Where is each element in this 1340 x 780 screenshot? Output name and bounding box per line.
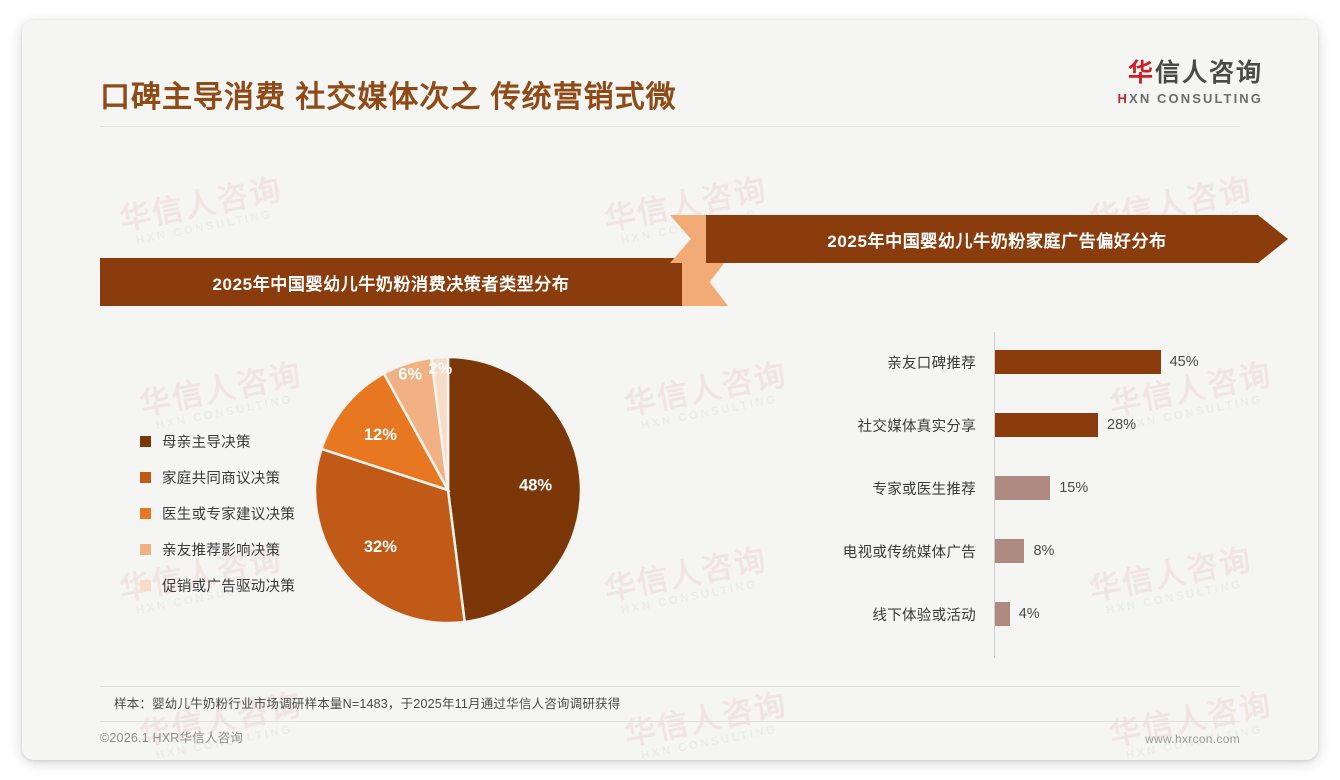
bar-track: 28% bbox=[995, 413, 1252, 437]
legend-label: 亲友推荐影响决策 bbox=[162, 539, 280, 560]
bar-value-label: 28% bbox=[1107, 417, 1136, 433]
bar-value-label: 45% bbox=[1170, 354, 1199, 370]
banner-left-title: 2025年中国婴幼儿牛奶粉消费决策者类型分布 bbox=[212, 270, 569, 295]
watermark-english: HXN CONSULTING bbox=[640, 722, 792, 760]
banner-left: 2025年中国婴幼儿牛奶粉消费决策者类型分布 bbox=[100, 258, 682, 306]
logo-chinese: 华信人咨询 bbox=[1118, 60, 1263, 88]
website-url: www.hxrcon.com bbox=[1145, 732, 1240, 746]
watermark-english: HXN CONSULTING bbox=[135, 207, 287, 247]
bar-value-label: 8% bbox=[1033, 543, 1054, 559]
pie-legend: 母亲主导决策家庭共同商议决策医生或专家建议决策亲友推荐影响决策促销或广告驱动决策 bbox=[140, 426, 295, 606]
bar-chart-panel: 亲友口碑推荐45%社交媒体真实分享28%专家或医生推荐15%电视或传统媒体广告8… bbox=[782, 330, 1252, 660]
bar-row[interactable]: 专家或医生推荐15% bbox=[782, 471, 1252, 505]
pie-chart-panel: 母亲主导决策家庭共同商议决策医生或专家建议决策亲友推荐影响决策促销或广告驱动决策… bbox=[100, 340, 660, 650]
logo-english-accent: H bbox=[1118, 91, 1130, 106]
logo-chinese-rest: 信人咨询 bbox=[1155, 59, 1263, 87]
bar-fill[interactable] bbox=[995, 539, 1024, 563]
bar-category-label: 专家或医生推荐 bbox=[782, 478, 988, 499]
copyright-text: ©2026.1 HXR华信人咨询 bbox=[100, 727, 243, 746]
bar-track: 45% bbox=[995, 350, 1252, 374]
sample-divider bbox=[100, 686, 1240, 687]
pie-legend-item[interactable]: 亲友推荐影响决策 bbox=[140, 534, 295, 564]
bar-category-label: 社交媒体真实分享 bbox=[782, 415, 988, 436]
bar-category-label: 线下体验或活动 bbox=[782, 604, 988, 625]
bar-track: 8% bbox=[995, 539, 1252, 563]
pie-chart: 48%32%12%6%2% bbox=[300, 340, 600, 640]
watermark-english: HXN CONSULTING bbox=[640, 392, 792, 432]
bar-fill[interactable] bbox=[995, 350, 1161, 374]
watermark-chinese: 华信人咨询 bbox=[117, 174, 285, 236]
bar-fill[interactable] bbox=[995, 413, 1098, 437]
legend-label: 家庭共同商议决策 bbox=[162, 467, 280, 488]
legend-color-swatch bbox=[140, 436, 151, 447]
bar-row[interactable]: 线下体验或活动4% bbox=[782, 597, 1252, 631]
watermark-tile: 华信人咨询HXN CONSULTING bbox=[622, 689, 793, 760]
banner-right-title: 2025年中国婴幼儿牛奶粉家庭广告偏好分布 bbox=[827, 227, 1166, 252]
sample-note: 样本：婴幼儿牛奶粉行业市场调研样本量N=1483，于2025年11月通过华信人咨… bbox=[114, 693, 620, 712]
bar-value-label: 4% bbox=[1019, 606, 1040, 622]
pie-slice-label: 48% bbox=[519, 477, 552, 495]
slide-header: 口碑主导消费 社交媒体次之 传统营销式微 华信人咨询 HXN CONSULTIN… bbox=[22, 20, 1318, 140]
bar-fill[interactable] bbox=[995, 476, 1050, 500]
bar-track: 4% bbox=[995, 602, 1252, 626]
legend-color-swatch bbox=[140, 508, 151, 519]
logo-chinese-accent: 华 bbox=[1128, 59, 1155, 87]
bar-category-label: 亲友口碑推荐 bbox=[782, 352, 988, 373]
watermark-tile: 华信人咨询HXN CONSULTING bbox=[1107, 689, 1278, 760]
legend-label: 医生或专家建议决策 bbox=[162, 503, 295, 524]
watermark-tile: 华信人咨询HXN CONSULTING bbox=[117, 174, 288, 250]
banner-right: 2025年中国婴幼儿牛奶粉家庭广告偏好分布 bbox=[706, 215, 1288, 263]
legend-color-swatch bbox=[140, 544, 151, 555]
bar-track: 15% bbox=[995, 476, 1252, 500]
legend-label: 母亲主导决策 bbox=[162, 431, 251, 452]
bar-row[interactable]: 社交媒体真实分享28% bbox=[782, 408, 1252, 442]
pie-slice-label: 2% bbox=[428, 360, 452, 378]
bar-fill[interactable] bbox=[995, 602, 1010, 626]
banner-right-chevron bbox=[670, 215, 706, 263]
watermark-chinese: 华信人咨询 bbox=[622, 689, 790, 751]
footer-divider bbox=[100, 721, 1240, 722]
slide-canvas: 华信人咨询HXN CONSULTING华信人咨询HXN CONSULTING华信… bbox=[22, 20, 1318, 760]
banner-left-arrow-tip bbox=[682, 258, 728, 306]
logo-english-rest: XN CONSULTING bbox=[1129, 91, 1263, 106]
pie-slice-label: 6% bbox=[398, 366, 422, 384]
logo-english: HXN CONSULTING bbox=[1118, 91, 1263, 106]
legend-color-swatch bbox=[140, 580, 151, 591]
bar-category-label: 电视或传统媒体广告 bbox=[782, 541, 988, 562]
legend-label: 促销或广告驱动决策 bbox=[162, 575, 295, 596]
pie-legend-item[interactable]: 家庭共同商议决策 bbox=[140, 462, 295, 492]
pie-legend-item[interactable]: 母亲主导决策 bbox=[140, 426, 295, 456]
bar-row[interactable]: 电视或传统媒体广告8% bbox=[782, 534, 1252, 568]
pie-legend-item[interactable]: 医生或专家建议决策 bbox=[140, 498, 295, 528]
header-divider bbox=[100, 126, 1240, 127]
company-logo: 华信人咨询 HXN CONSULTING bbox=[1118, 60, 1263, 106]
bar-value-label: 15% bbox=[1059, 480, 1088, 496]
legend-color-swatch bbox=[140, 472, 151, 483]
pie-slice[interactable] bbox=[448, 357, 581, 622]
bar-row[interactable]: 亲友口碑推荐45% bbox=[782, 345, 1252, 379]
pie-slice-label: 12% bbox=[364, 426, 397, 444]
page-title: 口碑主导消费 社交媒体次之 传统营销式微 bbox=[100, 72, 677, 116]
pie-slice-label: 32% bbox=[364, 538, 397, 556]
pie-legend-item[interactable]: 促销或广告驱动决策 bbox=[140, 570, 295, 600]
